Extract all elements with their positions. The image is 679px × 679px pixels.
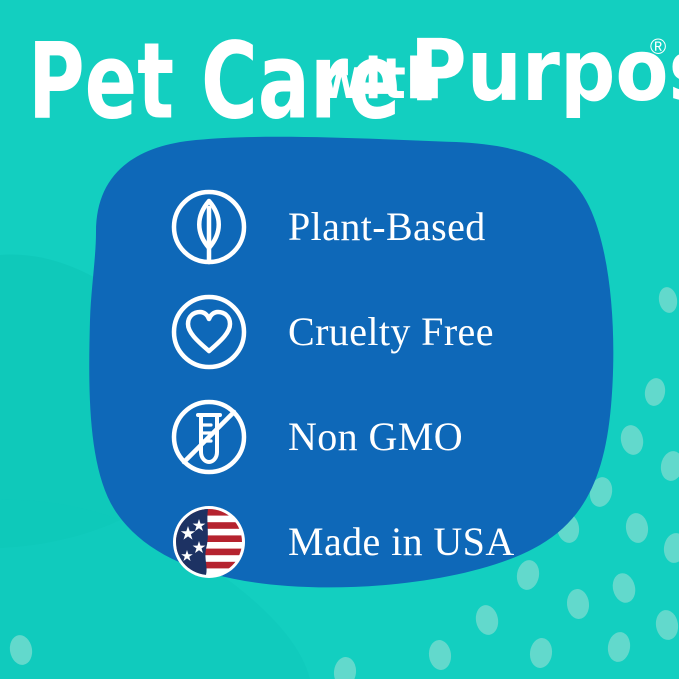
feature-list: Plant-Based Cruelty Free: [168, 174, 588, 594]
feature-row-plant-based: Plant-Based: [168, 174, 588, 279]
feature-row-non-gmo: Non GMO: [168, 384, 588, 489]
feature-label-plant-based: Plant-Based: [288, 207, 486, 247]
usa-flag-circle-icon: [168, 501, 250, 583]
feature-label-non-gmo: Non GMO: [288, 417, 463, 457]
feature-row-made-in-usa: Made in USA: [168, 489, 588, 594]
page-title: Pet Care with Purpose ®: [0, 14, 679, 124]
registered-trademark-icon: ®: [650, 34, 666, 59]
page-title-part-3: Purpose: [410, 21, 679, 121]
feature-label-made-in-usa: Made in USA: [288, 522, 515, 562]
pet-care-with-purpose-banner: Pet Care with Purpose ® Plant-Based: [0, 0, 679, 679]
no-gmo-test-tube-icon: [168, 396, 250, 478]
feature-row-cruelty-free: Cruelty Free: [168, 279, 588, 384]
leaf-in-circle-icon: [168, 186, 250, 268]
feature-label-cruelty-free: Cruelty Free: [288, 312, 494, 352]
heart-in-circle-icon: [168, 291, 250, 373]
